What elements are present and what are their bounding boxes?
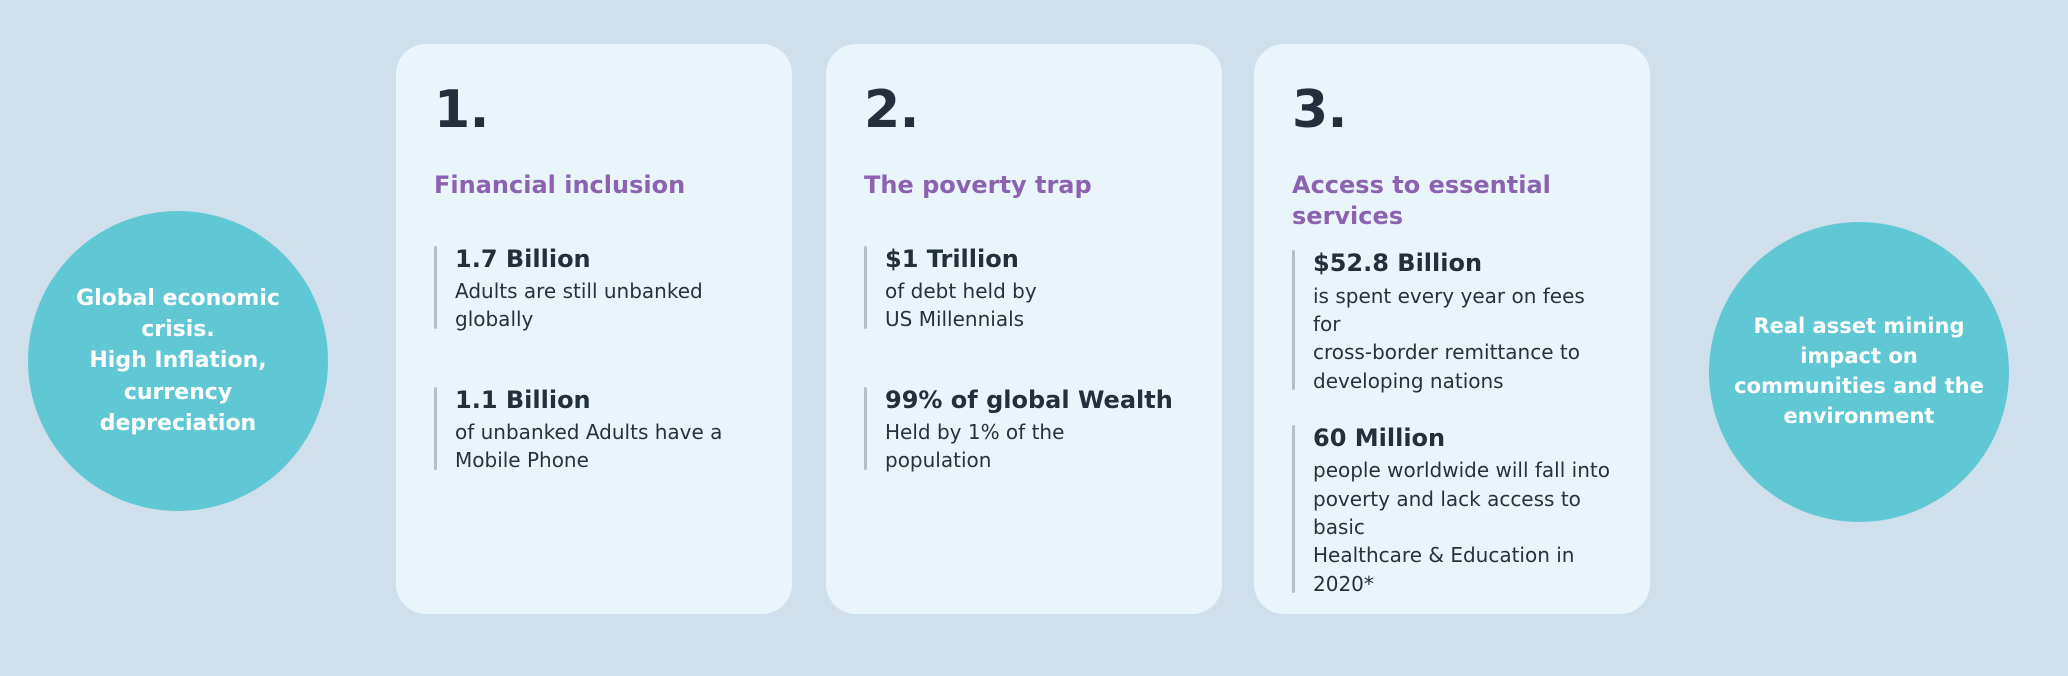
card-1-number: 1. xyxy=(434,84,754,136)
stat-value: 99% of global Wealth xyxy=(885,384,1184,416)
card-1-title: Financial inclusion xyxy=(434,170,754,201)
card-2-number: 2. xyxy=(864,84,1184,136)
stat-item: 60 Million people worldwide will fall in… xyxy=(1292,422,1612,598)
circle-left-problem: Global economic crisis. High Inflation, … xyxy=(28,211,328,511)
stat-value: 1.1 Billion xyxy=(455,384,754,416)
circle-left-text: Global economic crisis. High Inflation, … xyxy=(62,283,294,439)
stat-description: Adults are still unbanked globally xyxy=(455,277,754,334)
stat-description: is spent every year on fees for cross-bo… xyxy=(1313,282,1612,396)
stat-description: Held by 1% of the population xyxy=(885,418,1184,475)
card-financial-inclusion[interactable]: 1. Financial inclusion 1.7 Billion Adult… xyxy=(396,44,792,614)
card-2-title: The poverty trap xyxy=(864,170,1184,201)
card-2-stats: $1 Trillion of debt held by US Millennia… xyxy=(864,243,1184,475)
stat-value: 60 Million xyxy=(1313,422,1612,454)
stat-item: $52.8 Billion is spent every year on fee… xyxy=(1292,247,1612,395)
stat-value: 1.7 Billion xyxy=(455,243,754,275)
stat-rule-bar xyxy=(864,246,867,329)
stat-description: of unbanked Adults have a Mobile Phone xyxy=(455,418,754,475)
stat-item: 1.1 Billion of unbanked Adults have a Mo… xyxy=(434,384,754,475)
stat-value: $52.8 Billion xyxy=(1313,247,1612,279)
circle-right-impact: Real asset mining impact on communities … xyxy=(1709,222,2009,522)
stat-value: $1 Trillion xyxy=(885,243,1184,275)
stat-rule-bar xyxy=(1292,425,1295,593)
stat-description: of debt held by US Millennials xyxy=(885,277,1184,334)
card-3-number: 3. xyxy=(1292,84,1612,136)
card-3-title: Access to essential services xyxy=(1292,170,1612,231)
stat-item: $1 Trillion of debt held by US Millennia… xyxy=(864,243,1184,334)
card-poverty-trap[interactable]: 2. The poverty trap $1 Trillion of debt … xyxy=(826,44,1222,614)
stat-rule-bar xyxy=(434,246,437,329)
infographic-stage: Global economic crisis. High Inflation, … xyxy=(0,0,2068,676)
card-1-stats: 1.7 Billion Adults are still unbanked gl… xyxy=(434,243,754,475)
circle-right-text: Real asset mining impact on communities … xyxy=(1724,312,1994,431)
stat-description: people worldwide will fall into poverty … xyxy=(1313,456,1612,598)
card-3-stats: $52.8 Billion is spent every year on fee… xyxy=(1292,247,1612,598)
stat-rule-bar xyxy=(434,387,437,470)
stat-rule-bar xyxy=(864,387,867,470)
stat-rule-bar xyxy=(1292,250,1295,390)
card-access-essential-services[interactable]: 3. Access to essential services $52.8 Bi… xyxy=(1254,44,1650,614)
stat-item: 1.7 Billion Adults are still unbanked gl… xyxy=(434,243,754,334)
stat-item: 99% of global Wealth Held by 1% of the p… xyxy=(864,384,1184,475)
